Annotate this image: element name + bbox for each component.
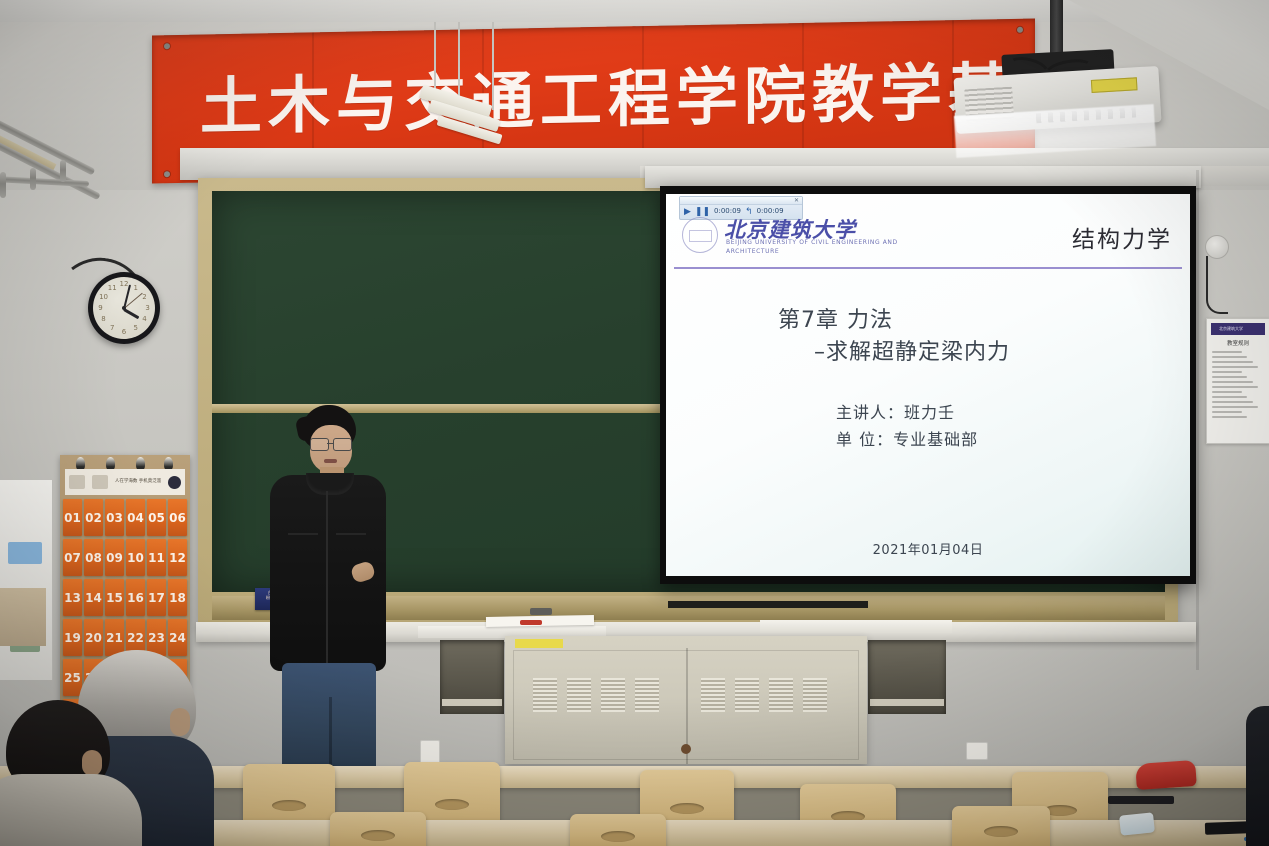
notice-body-lines (1212, 351, 1264, 440)
glasses-icon (309, 438, 353, 449)
pocket-chart-header: 人在学海数 手机莫泛滥 (65, 469, 185, 495)
notice-title: 教室规则 (1212, 339, 1264, 347)
slide-presenter-line: 主讲人：班力壬 (836, 399, 978, 426)
slide-title-line1: 第7章 力法 (778, 302, 893, 334)
lecturer-mouth (324, 459, 337, 463)
slide-unit-line: 单 位：专业基础部 (836, 426, 978, 453)
university-name-en: BEIJING UNIVERSITY OF CIVIL ENGINEERING … (726, 238, 916, 256)
slide-title-line2: –求解超静定梁内力 (814, 334, 1010, 366)
console-warning-label (515, 639, 563, 648)
pocket-slot[interactable]: 08 (84, 539, 103, 576)
notice-text-line (1212, 416, 1247, 418)
close-icon[interactable]: ✕ (794, 197, 799, 204)
recorder-titlebar (680, 197, 802, 205)
face-mask[interactable] (1119, 812, 1155, 835)
notice-text-line (1212, 376, 1247, 378)
pipe-elbow (0, 172, 6, 198)
teaching-console (505, 636, 867, 764)
pocket-slot[interactable]: 07 (63, 539, 82, 576)
notice-text-line (1212, 351, 1242, 353)
banner-text: 土木与交通工程学院教学基本功比赛 (200, 61, 1010, 139)
pocket-slot[interactable]: 12 (168, 539, 187, 576)
front-desk-panel-right (760, 620, 952, 633)
notice-text-line (1212, 386, 1258, 388)
notice-text-line (1212, 361, 1253, 363)
presentation-slide: ✕ ▶ ❚❚ 0:00:09 ↰ 0:00:09 北京建筑大学 BEIJING … (666, 194, 1190, 576)
audience-right-edge (1246, 706, 1269, 846)
clock-face: 12 1 2 3 4 5 6 7 8 9 10 11 (93, 277, 155, 339)
pocket-slot[interactable]: 15 (105, 579, 124, 616)
pause-icon[interactable]: ❚❚ (695, 207, 710, 216)
play-icon[interactable]: ▶ (684, 207, 691, 216)
notice-text-line (1212, 371, 1242, 373)
pocket-slot[interactable]: 11 (147, 539, 166, 576)
speaker-wire (1206, 256, 1228, 314)
wall-socket (966, 742, 988, 760)
notice-text-line (1212, 391, 1242, 393)
chair[interactable] (952, 806, 1050, 846)
pocket-slot[interactable]: 16 (126, 579, 145, 616)
pocket-slot[interactable]: 04 (126, 499, 145, 536)
notice-text-line (1212, 381, 1253, 383)
audience-dark-hair (0, 700, 140, 846)
cabinet-label (8, 542, 42, 564)
cardboard-box (0, 588, 46, 646)
classroom-rules-notice: 北京建筑大学 教室规则 (1206, 318, 1269, 444)
pocket-slot[interactable]: 13 (63, 579, 82, 616)
lecturer (266, 405, 390, 773)
slide-date: 2021年01月04日 (666, 539, 1190, 558)
console-lock[interactable] (681, 744, 691, 754)
pipe-elbow (60, 160, 66, 182)
lecturer-jeans (282, 663, 376, 775)
pocket-slot[interactable]: 05 (147, 499, 166, 536)
notice-text-line (1212, 366, 1258, 368)
course-title: 结构力学 (1072, 220, 1172, 254)
console-cubby-left (440, 640, 504, 714)
pocket-slot[interactable]: 03 (105, 499, 124, 536)
pocket-slot[interactable]: 01 (63, 499, 82, 536)
jacket-pocket (288, 533, 318, 535)
pocket-slot[interactable]: 09 (105, 539, 124, 576)
pocket-chart-slogan: 人在学海数 手机莫泛滥 (115, 479, 161, 484)
wall-corner-edge (1196, 170, 1199, 670)
jacket-zipper (326, 491, 328, 667)
pipe-elbow (30, 168, 36, 190)
projection-screen-housing (645, 166, 1201, 188)
chair[interactable] (330, 812, 426, 846)
notice-header-text: 北京建筑大学 (1211, 323, 1265, 332)
projection-screen: ✕ ▶ ❚❚ 0:00:09 ↰ 0:00:09 北京建筑大学 BEIJING … (660, 186, 1196, 584)
red-marker (520, 620, 542, 625)
jacket-pocket (336, 533, 366, 535)
notice-text-line (1212, 356, 1247, 358)
wall-socket (420, 740, 440, 764)
mobile-phone[interactable] (1205, 821, 1251, 835)
notice-text-line (1212, 396, 1247, 398)
notice-text-line (1212, 401, 1253, 403)
clock-center-pin (122, 306, 126, 310)
chalk-tray-insert (668, 601, 868, 608)
pocket-slot[interactable]: 06 (168, 499, 187, 536)
pocket-slot[interactable]: 14 (84, 579, 103, 616)
left-cabinet (0, 480, 53, 680)
wall-clock: 12 1 2 3 4 5 6 7 8 9 10 11 (88, 272, 160, 344)
pocket-slot[interactable]: 17 (147, 579, 166, 616)
red-bag[interactable] (1135, 760, 1197, 790)
pocket-slot[interactable]: 10 (126, 539, 145, 576)
projector-warning-label (1091, 77, 1138, 93)
notice-text-line (1212, 406, 1258, 408)
classroom-photo: 土木与交通工程学院教学基本功比赛 白粉笔 ✕ ▶ (0, 0, 1269, 846)
laptop[interactable] (1108, 796, 1174, 804)
notice-header: 北京建筑大学 (1211, 323, 1265, 335)
pocket-slot[interactable]: 18 (168, 579, 187, 616)
board-eraser (530, 608, 552, 615)
chair[interactable] (570, 814, 666, 846)
pocket-slot[interactable]: 02 (84, 499, 103, 536)
slide-divider-rule (674, 267, 1182, 269)
console-cubby-right (868, 640, 946, 714)
notice-text-line (1212, 411, 1242, 413)
